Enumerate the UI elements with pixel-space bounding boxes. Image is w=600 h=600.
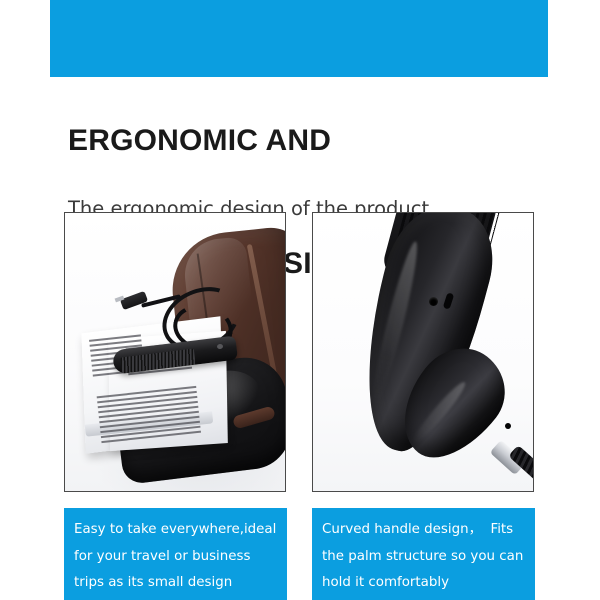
handle-screw-hole-icon <box>505 423 511 429</box>
caption-left-line-1: Easy to take everywhere,ideal <box>74 517 277 544</box>
caption-right: Curved handle design， Fits the palm stru… <box>312 508 535 600</box>
caption-right-line-1: Curved handle design， Fits <box>322 517 525 544</box>
caption-left-line-3: trips as its small design <box>74 570 277 597</box>
caption-right-line-2: the palm structure so you can <box>322 544 525 571</box>
book-text-block-c-icon <box>97 386 202 446</box>
caption-left-line-2: for your travel or business <box>74 544 277 571</box>
photo-right <box>312 212 534 492</box>
photo-right-artwork <box>313 213 533 491</box>
photo-left <box>64 212 286 492</box>
photo-left-artwork <box>65 213 285 491</box>
product-feature-slide: ERGONOMIC AND PORTABLE DESIGN The ergono… <box>0 0 600 600</box>
handle-vent-hole-icon <box>429 297 438 306</box>
caption-right-line-3: hold it comfortably <box>322 570 525 597</box>
caption-left: Easy to take everywhere,ideal for your t… <box>64 508 287 600</box>
